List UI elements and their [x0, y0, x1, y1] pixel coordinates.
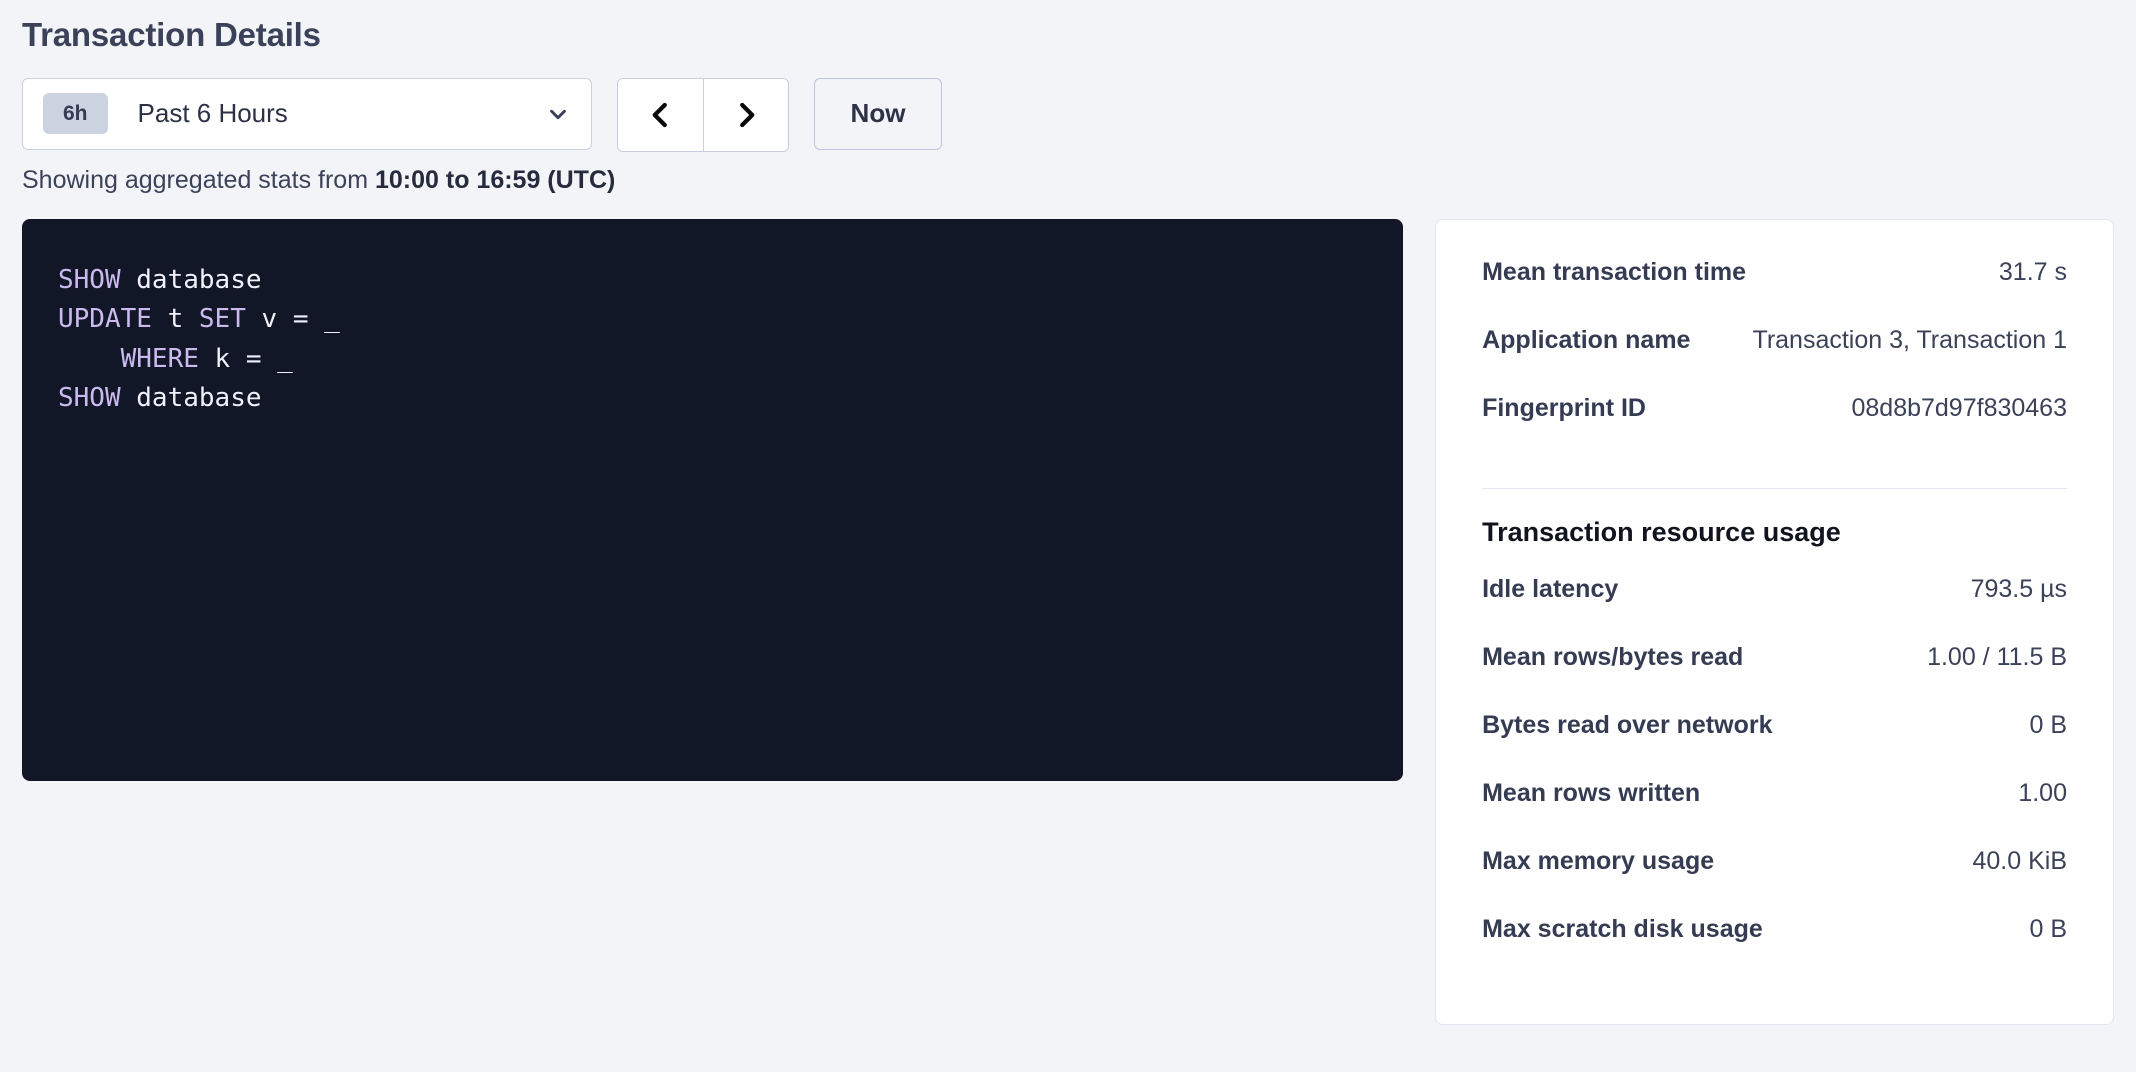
stat-value: 40.0 KiB	[1972, 847, 2067, 876]
stat-value: 793.5 µs	[1971, 575, 2067, 604]
sql-identifier: database	[136, 265, 261, 295]
time-range-label: Past 6 Hours	[138, 98, 547, 129]
chevron-right-icon	[731, 100, 761, 130]
stat-value: 1.00 / 11.5 B	[1927, 643, 2067, 672]
stat-label: Bytes read over network	[1482, 711, 1772, 740]
sql-keyword: WHERE	[121, 344, 199, 374]
sql-identifier	[58, 344, 121, 374]
time-range-badge: 6h	[43, 93, 108, 134]
page-title: Transaction Details	[22, 0, 2114, 54]
sql-identifier: k = _	[199, 344, 293, 374]
overview-stats-list: Mean transaction time31.7 sApplication n…	[1482, 258, 2067, 462]
stat-value: 0 B	[2029, 711, 2067, 740]
stat-row: Mean rows/bytes read1.00 / 11.5 B	[1482, 643, 2067, 711]
sql-keyword: UPDATE	[58, 304, 152, 334]
sql-keyword: SHOW	[58, 265, 121, 295]
stat-row: Fingerprint ID08d8b7d97f830463	[1482, 394, 2067, 462]
chevron-down-icon	[547, 103, 569, 125]
sql-keyword: SET	[199, 304, 246, 334]
stat-value: Transaction 3, Transaction 1	[1752, 326, 2067, 355]
stat-value: 1.00	[2018, 779, 2067, 808]
stat-row: Max memory usage40.0 KiB	[1482, 847, 2067, 915]
stat-value: 31.7 s	[1999, 258, 2067, 287]
chevron-left-icon	[646, 100, 676, 130]
resource-stats-list: Idle latency793.5 µsMean rows/bytes read…	[1482, 575, 2067, 983]
stat-label: Application name	[1482, 326, 1690, 355]
stat-row: Mean transaction time31.7 s	[1482, 258, 2067, 326]
stat-row: Mean rows written1.00	[1482, 779, 2067, 847]
stat-label: Mean rows/bytes read	[1482, 643, 1743, 672]
sql-code-panel[interactable]: SHOW database UPDATE t SET v = _ WHERE k…	[22, 219, 1403, 781]
stat-label: Mean rows written	[1482, 779, 1700, 808]
sql-code-text: SHOW database UPDATE t SET v = _ WHERE k…	[58, 261, 1367, 419]
stat-value: 0 B	[2029, 915, 2067, 944]
sql-identifier: database	[136, 383, 261, 413]
transaction-stats-card: Mean transaction time31.7 sApplication n…	[1435, 219, 2114, 1025]
stat-label: Mean transaction time	[1482, 258, 1746, 287]
showing-stats-text: Showing aggregated stats from 10:00 to 1…	[22, 166, 2114, 195]
stat-row: Bytes read over network0 B	[1482, 711, 2067, 779]
stats-divider	[1482, 488, 2067, 489]
stat-value: 08d8b7d97f830463	[1851, 394, 2067, 423]
stat-row: Idle latency793.5 µs	[1482, 575, 2067, 643]
showing-stats-prefix: Showing aggregated stats from	[22, 166, 375, 194]
now-button[interactable]: Now	[814, 78, 942, 150]
transaction-details-page: Transaction Details 6h Past 6 Hours Now	[0, 0, 2136, 1072]
stat-row: Application nameTransaction 3, Transacti…	[1482, 326, 2067, 394]
stat-row: Max scratch disk usage0 B	[1482, 915, 2067, 983]
showing-stats-range: 10:00 to 16:59 (UTC)	[375, 166, 615, 194]
stat-label: Max scratch disk usage	[1482, 915, 1763, 944]
time-range-select[interactable]: 6h Past 6 Hours	[22, 78, 592, 150]
stat-label: Idle latency	[1482, 575, 1618, 604]
resource-usage-title: Transaction resource usage	[1482, 517, 2067, 548]
sql-identifier: t	[152, 304, 199, 334]
previous-period-button[interactable]	[618, 79, 703, 151]
stat-label: Max memory usage	[1482, 847, 1714, 876]
stat-label: Fingerprint ID	[1482, 394, 1646, 423]
time-nav-buttons	[617, 78, 789, 152]
time-range-controls: 6h Past 6 Hours Now	[22, 78, 2114, 152]
sql-keyword: SHOW	[58, 383, 121, 413]
next-period-button[interactable]	[703, 79, 788, 151]
sql-identifier	[121, 383, 137, 413]
details-body: SHOW database UPDATE t SET v = _ WHERE k…	[22, 219, 2114, 1025]
sql-identifier	[121, 265, 137, 295]
sql-identifier: v = _	[246, 304, 340, 334]
